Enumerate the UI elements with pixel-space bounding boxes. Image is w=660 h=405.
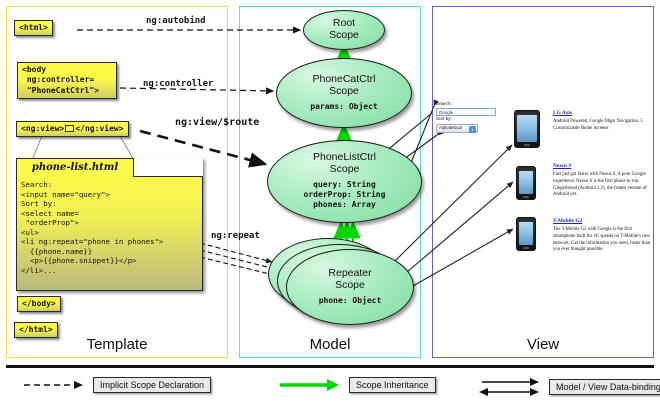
chevron-down-icon: ▾	[469, 126, 476, 133]
phone-name-link[interactable]: T-Mobile G2	[553, 218, 653, 224]
scope-phonelistctrl-props: query: String orderProp: String phones: …	[304, 180, 386, 211]
phone-screen	[517, 115, 537, 142]
legend-divider	[6, 365, 654, 368]
ngview-close-label: </ng:view>	[75, 124, 123, 133]
sort-select[interactable]: Alphabetical ▾	[436, 124, 478, 133]
html-open-tag: <html>	[14, 20, 53, 36]
view-search-form: Search: Google Sort by: Alphabetical ▾	[436, 101, 498, 133]
label-ng-autobind: ng:autobind	[146, 16, 206, 26]
ngview-open-label: <ng:view>	[21, 124, 64, 133]
body-close-tag: </body>	[17, 296, 61, 312]
phone-home-button	[523, 196, 529, 198]
phone-home-button	[523, 247, 529, 249]
scope-repeater: Repeater Scope phone: Object	[286, 249, 414, 325]
phone-snippet: The T-Mobile G2 with Google is the first…	[553, 227, 653, 254]
scope-phonelistctrl: PhoneListCtrl Scope query: String orderP…	[267, 140, 422, 223]
double-arrow-icon	[478, 377, 540, 397]
sort-label: Sort by:	[436, 116, 498, 123]
panel-model-label: Model	[240, 336, 420, 353]
panel-view-label: View	[433, 336, 653, 353]
label-ng-controller: ng:controller	[143, 79, 213, 89]
sort-select-value: Alphabetical	[439, 124, 462, 132]
phone-list-item: Nexus S Fast just got faster with Nexus …	[553, 163, 653, 199]
phone-snippet: Android Powered, Google Maps Navigation,…	[553, 119, 653, 133]
phone-list-item: LG Axis Android Powered, Google Maps Nav…	[553, 110, 653, 133]
phone-thumbnail	[516, 166, 536, 200]
phone-home-button	[524, 144, 530, 146]
phone-bezel	[517, 167, 535, 170]
legend-label: Implicit Scope Declaration	[93, 377, 211, 393]
phone-list-item: T-Mobile G2 The T-Mobile G2 with Google …	[553, 218, 653, 254]
scope-phonelistctrl-name: PhoneListCtrl Scope	[313, 152, 376, 176]
legend-item-implicit-scope: Implicit Scope Declaration	[22, 377, 211, 393]
dashed-arrow-icon	[22, 379, 84, 391]
label-ng-view-route: ng:view/$route	[175, 117, 259, 128]
green-arrow-icon	[278, 379, 340, 391]
phone-thumbnail	[514, 110, 540, 148]
scope-root: Root Scope	[303, 10, 385, 50]
phone-bezel	[517, 218, 535, 221]
ngview-slot-icon	[65, 125, 74, 132]
phone-screen	[519, 222, 533, 245]
scope-phonecatctrl-name: PhoneCatCtrl Scope	[312, 74, 375, 98]
diagram-canvas: Template Model View	[0, 0, 660, 405]
phone-thumbnail	[516, 217, 536, 251]
search-input[interactable]: Google	[436, 108, 496, 116]
legend: Implicit Scope Declaration Scope Inherit…	[0, 363, 660, 405]
legend-label: Scope Inheritance	[349, 377, 436, 393]
phone-bezel	[515, 111, 539, 114]
legend-label: Model / View Data-binding	[549, 379, 660, 395]
scope-phonecatctrl: PhoneCatCtrl Scope params: Object	[276, 58, 412, 128]
search-label: Search:	[436, 101, 498, 108]
code-note-title: phone-list.html	[16, 158, 134, 177]
code-note: phone-list.html Search: <input name="que…	[16, 158, 203, 291]
scope-root-name: Root Scope	[329, 18, 359, 42]
ngview-tag: <ng:view></ng:view>	[16, 121, 129, 137]
panel-template-label: Template	[7, 336, 227, 353]
scope-repeater-props: phone: Object	[319, 296, 382, 306]
body-open-tag: <body ng:controller= "PhoneCatCtrl">	[17, 62, 117, 99]
code-note-body: Search: <input name="query"> Sort by: <s…	[16, 176, 203, 291]
scope-phonecatctrl-props: params: Object	[310, 102, 377, 112]
phone-name-link[interactable]: Nexus S	[553, 163, 653, 169]
phone-name-link[interactable]: LG Axis	[553, 110, 653, 116]
html-close-tag: </html>	[14, 322, 58, 338]
phone-snippet: Fast just got faster with Nexus S. A pur…	[553, 172, 653, 199]
legend-item-data-binding: Model / View Data-binding	[478, 377, 660, 397]
legend-item-scope-inheritance: Scope Inheritance	[278, 377, 436, 393]
phone-screen	[519, 171, 533, 194]
label-ng-repeat: ng:repeat	[211, 231, 260, 241]
scope-repeater-name: Repeater Scope	[328, 268, 371, 292]
